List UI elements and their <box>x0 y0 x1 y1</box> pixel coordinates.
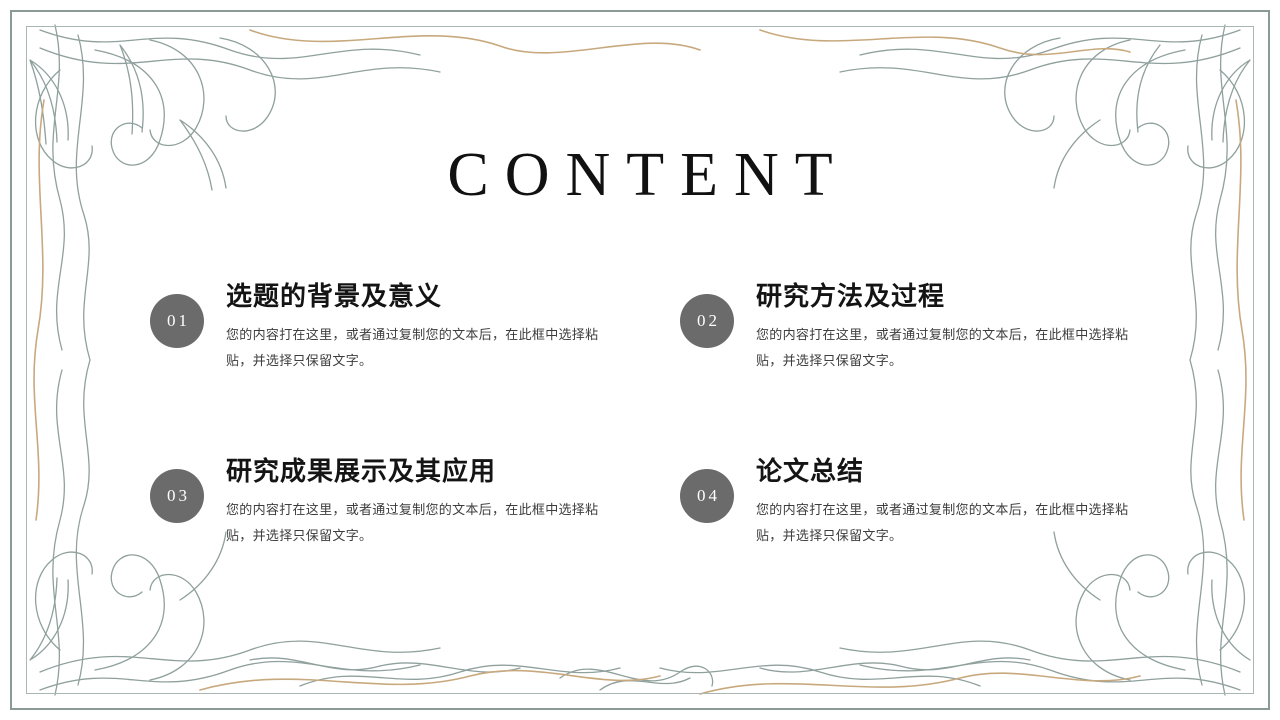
page-title-container: CONTENT <box>0 140 1280 211</box>
item-number-badge: 04 <box>680 469 734 523</box>
item-description: 您的内容打在这里，或者通过复制您的文本后，在此框中选择粘贴，并选择只保留文字。 <box>226 323 614 375</box>
item-text-block: 研究方法及过程 您的内容打在这里，或者通过复制您的文本后，在此框中选择粘贴，并选… <box>756 282 1144 375</box>
item-title: 研究方法及过程 <box>756 282 1144 313</box>
list-item[interactable]: 02 研究方法及过程 您的内容打在这里，或者通过复制您的文本后，在此框中选择粘贴… <box>680 282 1160 375</box>
item-title: 选题的背景及意义 <box>226 282 614 313</box>
list-item[interactable]: 04 论文总结 您的内容打在这里，或者通过复制您的文本后，在此框中选择粘贴，并选… <box>680 457 1160 550</box>
item-text-block: 选题的背景及意义 您的内容打在这里，或者通过复制您的文本后，在此框中选择粘贴，并… <box>226 282 614 375</box>
content-list: 01 选题的背景及意义 您的内容打在这里，或者通过复制您的文本后，在此框中选择粘… <box>150 282 1160 550</box>
item-title: 论文总结 <box>756 457 1144 488</box>
item-description: 您的内容打在这里，或者通过复制您的文本后，在此框中选择粘贴，并选择只保留文字。 <box>756 498 1144 550</box>
item-text-block: 研究成果展示及其应用 您的内容打在这里，或者通过复制您的文本后，在此框中选择粘贴… <box>226 457 614 550</box>
item-description: 您的内容打在这里，或者通过复制您的文本后，在此框中选择粘贴，并选择只保留文字。 <box>756 323 1144 375</box>
item-description: 您的内容打在这里，或者通过复制您的文本后，在此框中选择粘贴，并选择只保留文字。 <box>226 498 614 550</box>
item-number-badge: 03 <box>150 469 204 523</box>
item-text-block: 论文总结 您的内容打在这里，或者通过复制您的文本后，在此框中选择粘贴，并选择只保… <box>756 457 1144 550</box>
page-title: CONTENT <box>0 140 1280 211</box>
item-number-badge: 01 <box>150 294 204 348</box>
item-number-badge: 02 <box>680 294 734 348</box>
list-item[interactable]: 01 选题的背景及意义 您的内容打在这里，或者通过复制您的文本后，在此框中选择粘… <box>150 282 630 375</box>
item-title: 研究成果展示及其应用 <box>226 457 614 488</box>
slide-canvas: CONTENT 01 选题的背景及意义 您的内容打在这里，或者通过复制您的文本后… <box>0 0 1280 720</box>
list-item[interactable]: 03 研究成果展示及其应用 您的内容打在这里，或者通过复制您的文本后，在此框中选… <box>150 457 630 550</box>
